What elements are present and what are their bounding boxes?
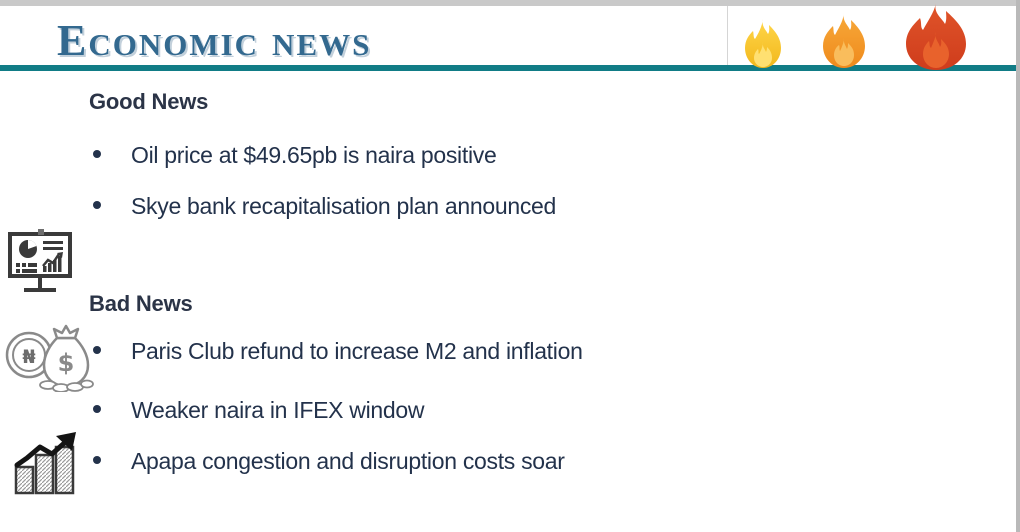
- slide: Economic news: [0, 0, 1020, 532]
- section-heading-bad-news: Bad News: [89, 291, 193, 317]
- bullet-dot-icon: [93, 201, 101, 209]
- list-item: Skye bank recapitalisation plan announce…: [89, 190, 889, 224]
- list-item-label: Weaker naira in IFEX window: [131, 394, 424, 426]
- list-item: Paris Club refund to increase M2 and inf…: [89, 335, 889, 369]
- list-item: Apapa congestion and disruption costs so…: [89, 445, 889, 479]
- list-item-label: Apapa congestion and disruption costs so…: [131, 445, 565, 477]
- money-bag-naira-icon: ₦ $: [2, 322, 94, 392]
- section-heading-good-news: Good News: [89, 89, 208, 115]
- growth-bar-chart-icon: [10, 427, 84, 499]
- header-divider: [727, 6, 728, 66]
- flame-small-icon: [732, 18, 794, 70]
- presentation-chart-icon: [2, 222, 78, 298]
- list-item-label: Skye bank recapitalisation plan announce…: [131, 190, 556, 222]
- svg-text:₦: ₦: [22, 346, 35, 368]
- flame-large-icon: [885, 2, 987, 70]
- list-item: Oil price at $49.65pb is naira positive: [89, 139, 889, 173]
- bullet-dot-icon: [93, 456, 101, 464]
- page-title: Economic news: [57, 19, 371, 63]
- flame-medium-icon: [808, 12, 880, 70]
- bullet-dot-icon: [93, 346, 101, 354]
- bullet-dot-icon: [93, 405, 101, 413]
- bullet-dot-icon: [93, 150, 101, 158]
- list-item-label: Paris Club refund to increase M2 and inf…: [131, 335, 583, 367]
- list-item-label: Oil price at $49.65pb is naira positive: [131, 139, 496, 171]
- svg-text:$: $: [58, 349, 75, 377]
- flame-icon-group: [730, 2, 990, 70]
- list-item: Weaker naira in IFEX window: [89, 394, 889, 428]
